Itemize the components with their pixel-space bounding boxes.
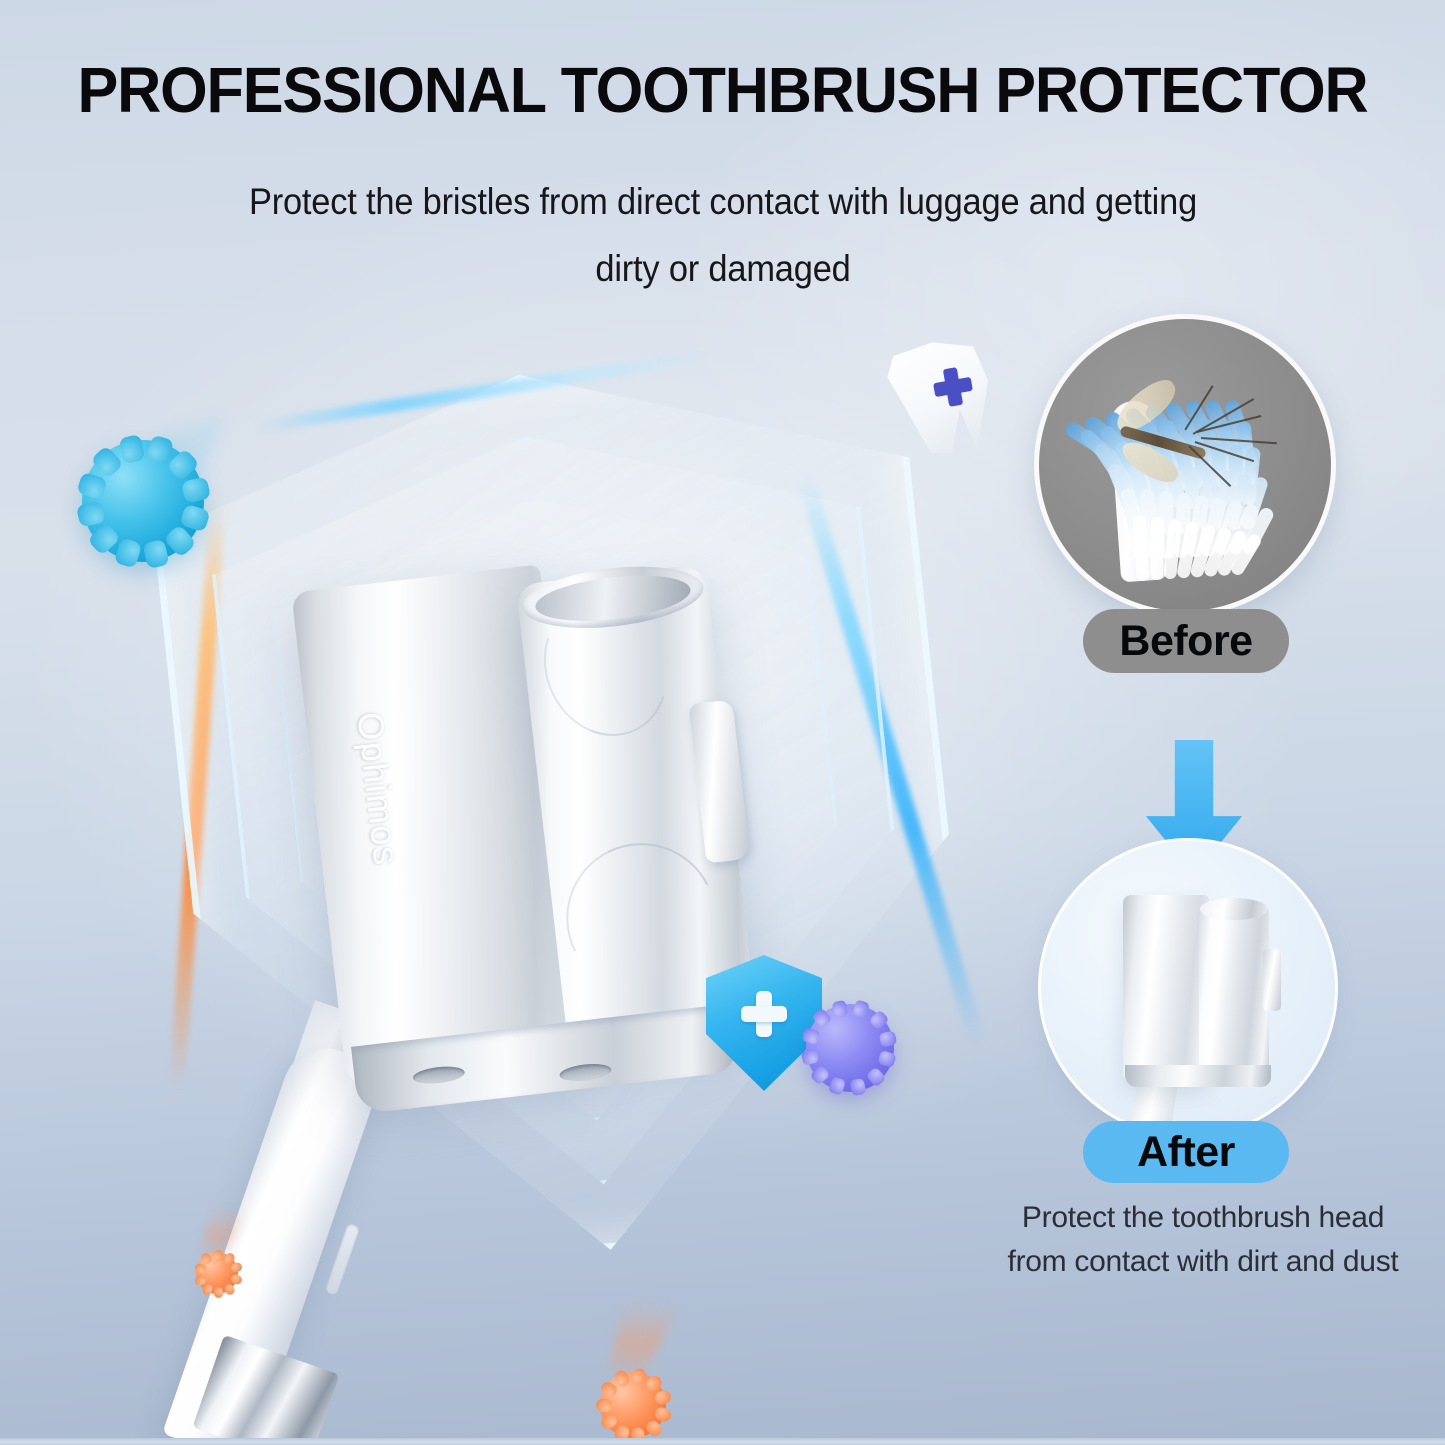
after-caption-line-1: Protect the toothbrush head [962,1196,1444,1240]
mini-cap-rim [1200,898,1268,920]
cross-icon [741,991,787,1037]
product-marketing-image: PROFESSIONAL TOOTHBRUSH PROTECTOR Protec… [0,0,1445,1445]
after-caption: Protect the toothbrush head from contact… [962,1196,1444,1283]
protector-cap-product: Ophimos [290,535,754,1098]
toothbrush-bristle-head [1097,371,1307,581]
page-title: PROFESSIONAL TOOTHBRUSH PROTECTOR [33,58,1413,122]
virus-spike [213,1249,222,1260]
before-label-pill: Before [1083,609,1289,673]
bottom-edge-strip [0,1438,1445,1445]
orange-virus-icon [600,1372,666,1438]
mini-cap-tube [1199,903,1269,1079]
page-subtitle: Protect the bristles from direct contact… [174,168,1271,303]
tooth-cross-icon [931,365,975,409]
blue-virus-icon [82,440,204,562]
before-photo-circle [1034,314,1336,616]
after-caption-line-2: from contact with dirt and dust [962,1240,1444,1284]
mini-cap-clip [1263,949,1281,1011]
mini-cap-body [1123,895,1209,1083]
mini-protector-cap [1123,887,1273,1083]
mini-cap-base [1125,1065,1271,1087]
bristle [1150,517,1164,580]
orange-virus-icon [196,1252,238,1294]
purple-virus-icon [806,1004,894,1092]
subtitle-line-1: Protect the bristles from direct contact… [174,168,1271,235]
after-photo-circle [1038,838,1338,1138]
subtitle-line-2: dirty or damaged [174,235,1271,302]
after-label-pill: After [1083,1121,1289,1183]
